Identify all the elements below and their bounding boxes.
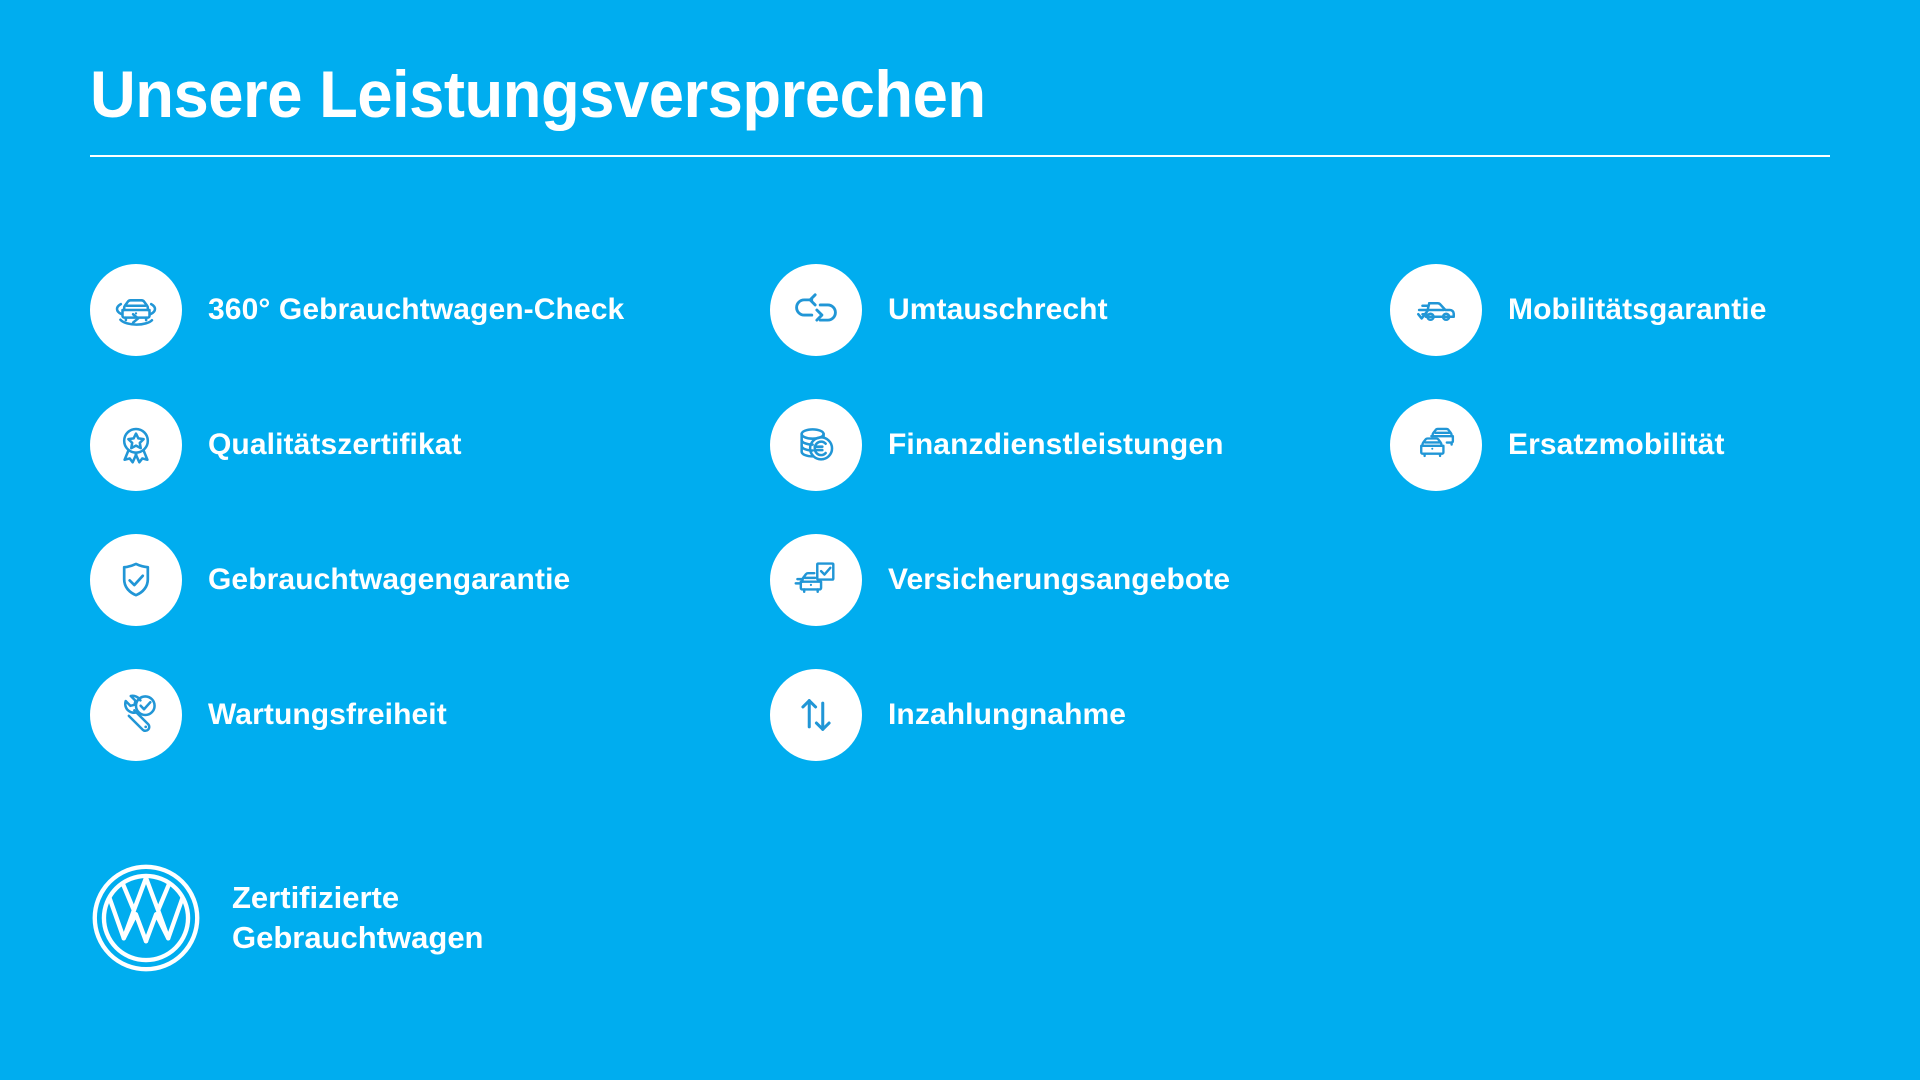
euro-coins-icon [770,399,862,491]
feature-item-inzahlungnahme[interactable]: Inzahlungnahme [770,667,1390,763]
header: Unsere Leistungsversprechen [90,60,1830,157]
feature-item-wartungsfreiheit[interactable]: Wartungsfreiheit [90,667,770,763]
feature-label: Finanzdienstleistungen [888,428,1224,463]
page-title: Unsere Leistungsversprechen [90,60,1760,129]
feature-label: 360° Gebrauchtwagen-Check [208,293,624,328]
up-down-arrows-icon [770,669,862,761]
brand-text: Zertifizierte Gebrauchtwagen [232,878,484,957]
feature-grid: 360° Gebrauchtwagen-Check Umtauschrecht [90,262,1880,802]
feature-label: Qualitätszertifikat [208,428,462,463]
exchange-arrows-icon [770,264,862,356]
two-cars-icon [1390,399,1482,491]
volkswagen-logo [88,860,204,976]
feature-item-360-check[interactable]: 360° Gebrauchtwagen-Check [90,262,770,358]
feature-item-versicherungsangebote[interactable]: Versicherungsangebote [770,532,1390,628]
car-360-check-icon [90,264,182,356]
moving-car-check-icon [1390,264,1482,356]
feature-item-umtauschrecht[interactable]: Umtauschrecht [770,262,1390,358]
feature-item-gebrauchtwagengarantie[interactable]: Gebrauchtwagengarantie [90,532,770,628]
feature-item-qualitaetszertifikat[interactable]: Qualitätszertifikat [90,397,770,493]
car-document-check-icon [770,534,862,626]
feature-label: Ersatzmobilität [1508,428,1725,463]
feature-item-finanzdienstleistungen[interactable]: Finanzdienstleistungen [770,397,1390,493]
promise-slide: Unsere Leistungsversprechen 360° Gebr [0,0,1920,1080]
feature-item-mobilitaetsgarantie[interactable]: Mobilitätsgarantie [1390,262,1860,358]
feature-label: Versicherungsangebote [888,563,1230,598]
feature-label: Gebrauchtwagengarantie [208,563,570,598]
shield-check-icon [90,534,182,626]
brand-lockup: Zertifizierte Gebrauchtwagen [88,860,484,976]
title-divider [90,155,1830,157]
feature-label: Umtauschrecht [888,293,1108,328]
feature-label: Wartungsfreiheit [208,698,447,733]
feature-label: Inzahlungnahme [888,698,1126,733]
wrench-check-icon [90,669,182,761]
quality-rosette-icon [90,399,182,491]
feature-item-ersatzmobilitaet[interactable]: Ersatzmobilität [1390,397,1860,493]
feature-label: Mobilitätsgarantie [1508,293,1767,328]
